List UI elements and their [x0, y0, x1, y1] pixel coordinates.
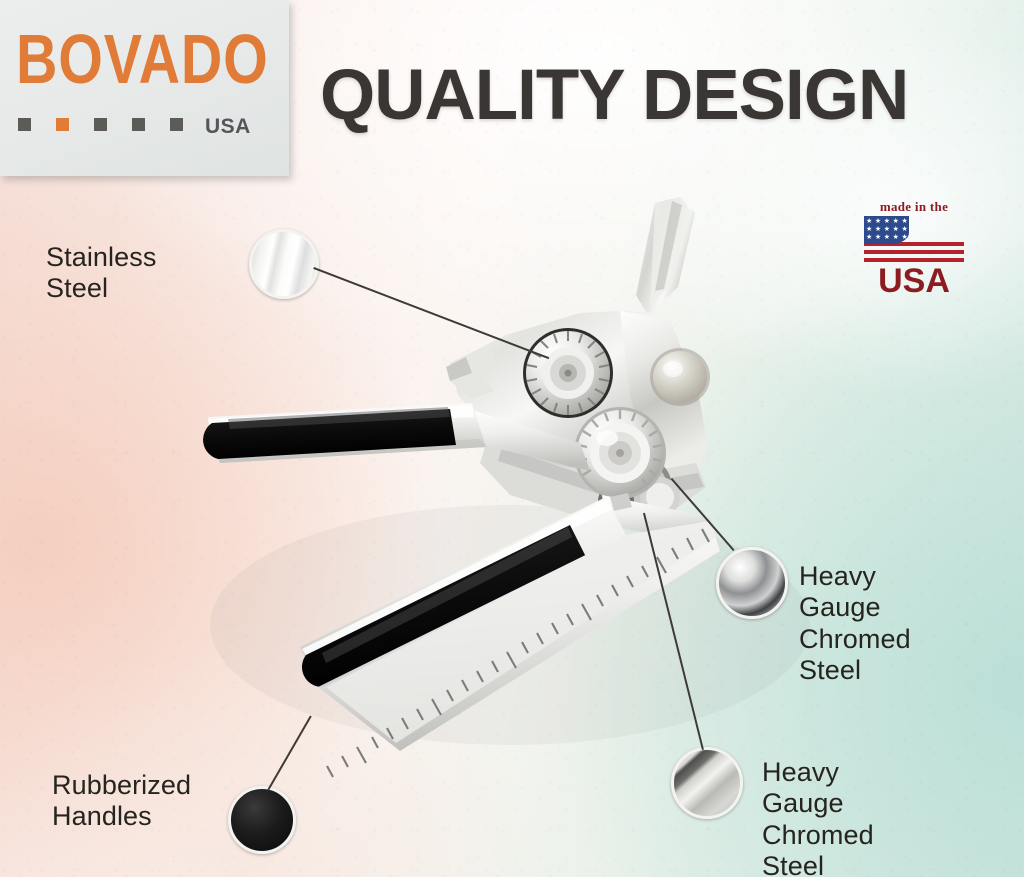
product-image-can-opener — [150, 195, 850, 835]
made-in-usa-top-text: made in the — [862, 200, 966, 213]
callout-label-rubberized-handles: Rubberized Handles — [52, 770, 191, 833]
brand-square-row — [18, 118, 183, 131]
swatch-brushed-stainless — [249, 229, 319, 299]
brand-square-2-accent — [56, 118, 69, 131]
brand-square-5 — [170, 118, 183, 131]
brand-square-4 — [132, 118, 145, 131]
callout-label-stainless-steel: Stainless Steel — [46, 242, 156, 305]
swatch-banded-chrome — [671, 747, 743, 819]
made-in-usa-badge: made in the ★★★★★★ ★★★★★ ★★★★★★ ★★★★★ US… — [862, 200, 966, 310]
brand-square-1 — [18, 118, 31, 131]
callout-label-heavy-gauge-lower: Heavy Gauge Chromed Steel — [762, 757, 874, 877]
american-flag-icon: ★★★★★★ ★★★★★ ★★★★★★ ★★★★★ — [864, 216, 964, 263]
brand-square-3 — [94, 118, 107, 131]
made-in-usa-bottom-text: USA — [862, 264, 966, 298]
flag-stars: ★★★★★★ ★★★★★ ★★★★★★ ★★★★★ — [866, 218, 907, 242]
swatch-black-rubber — [228, 786, 296, 854]
infographic-canvas: BOVADO USA QUALITY DESIGN made in the ★★… — [0, 0, 1024, 877]
callout-label-heavy-gauge-upper: Heavy Gauge Chromed Steel — [799, 561, 911, 686]
brand-logo-plaque: BOVADO USA — [0, 0, 289, 176]
swatch-polished-chrome — [716, 547, 788, 619]
page-title: QUALITY DESIGN — [320, 60, 980, 131]
brand-suffix-usa: USA — [205, 115, 251, 139]
brand-wordmark: BOVADO — [16, 24, 269, 94]
